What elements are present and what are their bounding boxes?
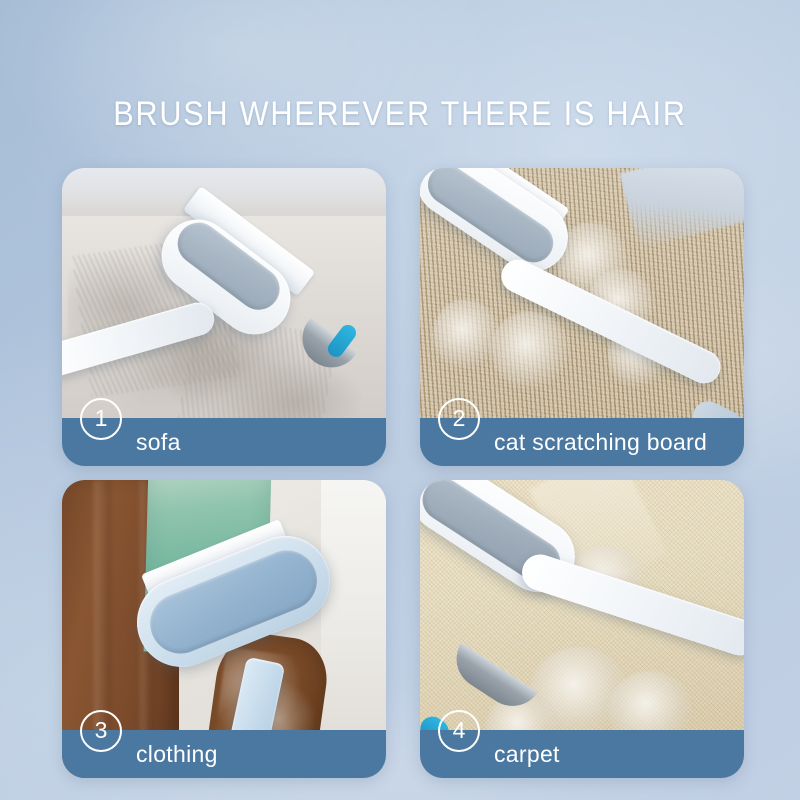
brush-bristle-strip [445,642,537,716]
feature-card-cat-scratching-board[interactable]: 2 cat scratching board [420,168,744,466]
caption-bar: 3 clothing [62,730,386,778]
product-poster: BRUSH WHEREVER THERE IS HAIR 1 sofa [0,0,800,800]
caption-bar: 2 cat scratching board [420,418,744,466]
step-number-badge: 1 [80,398,122,440]
feature-card-clothing[interactable]: 3 clothing [62,480,386,778]
brush-handle [518,550,744,660]
brush-handle [62,299,219,381]
caption-label: carpet [494,741,560,768]
step-number-badge: 3 [80,710,122,752]
page-title: BRUSH WHEREVER THERE IS HAIR [40,92,760,136]
step-number-badge: 2 [438,398,480,440]
caption-bar: 1 sofa [62,418,386,466]
feature-card-carpet[interactable]: 4 carpet [420,480,744,778]
caption-label: clothing [136,741,218,768]
brush-handle [496,254,726,389]
caption-label: sofa [136,429,181,456]
caption-label: cat scratching board [494,429,707,456]
step-number-badge: 4 [438,710,480,752]
feature-card-sofa[interactable]: 1 sofa [62,168,386,466]
caption-bar: 4 carpet [420,730,744,778]
